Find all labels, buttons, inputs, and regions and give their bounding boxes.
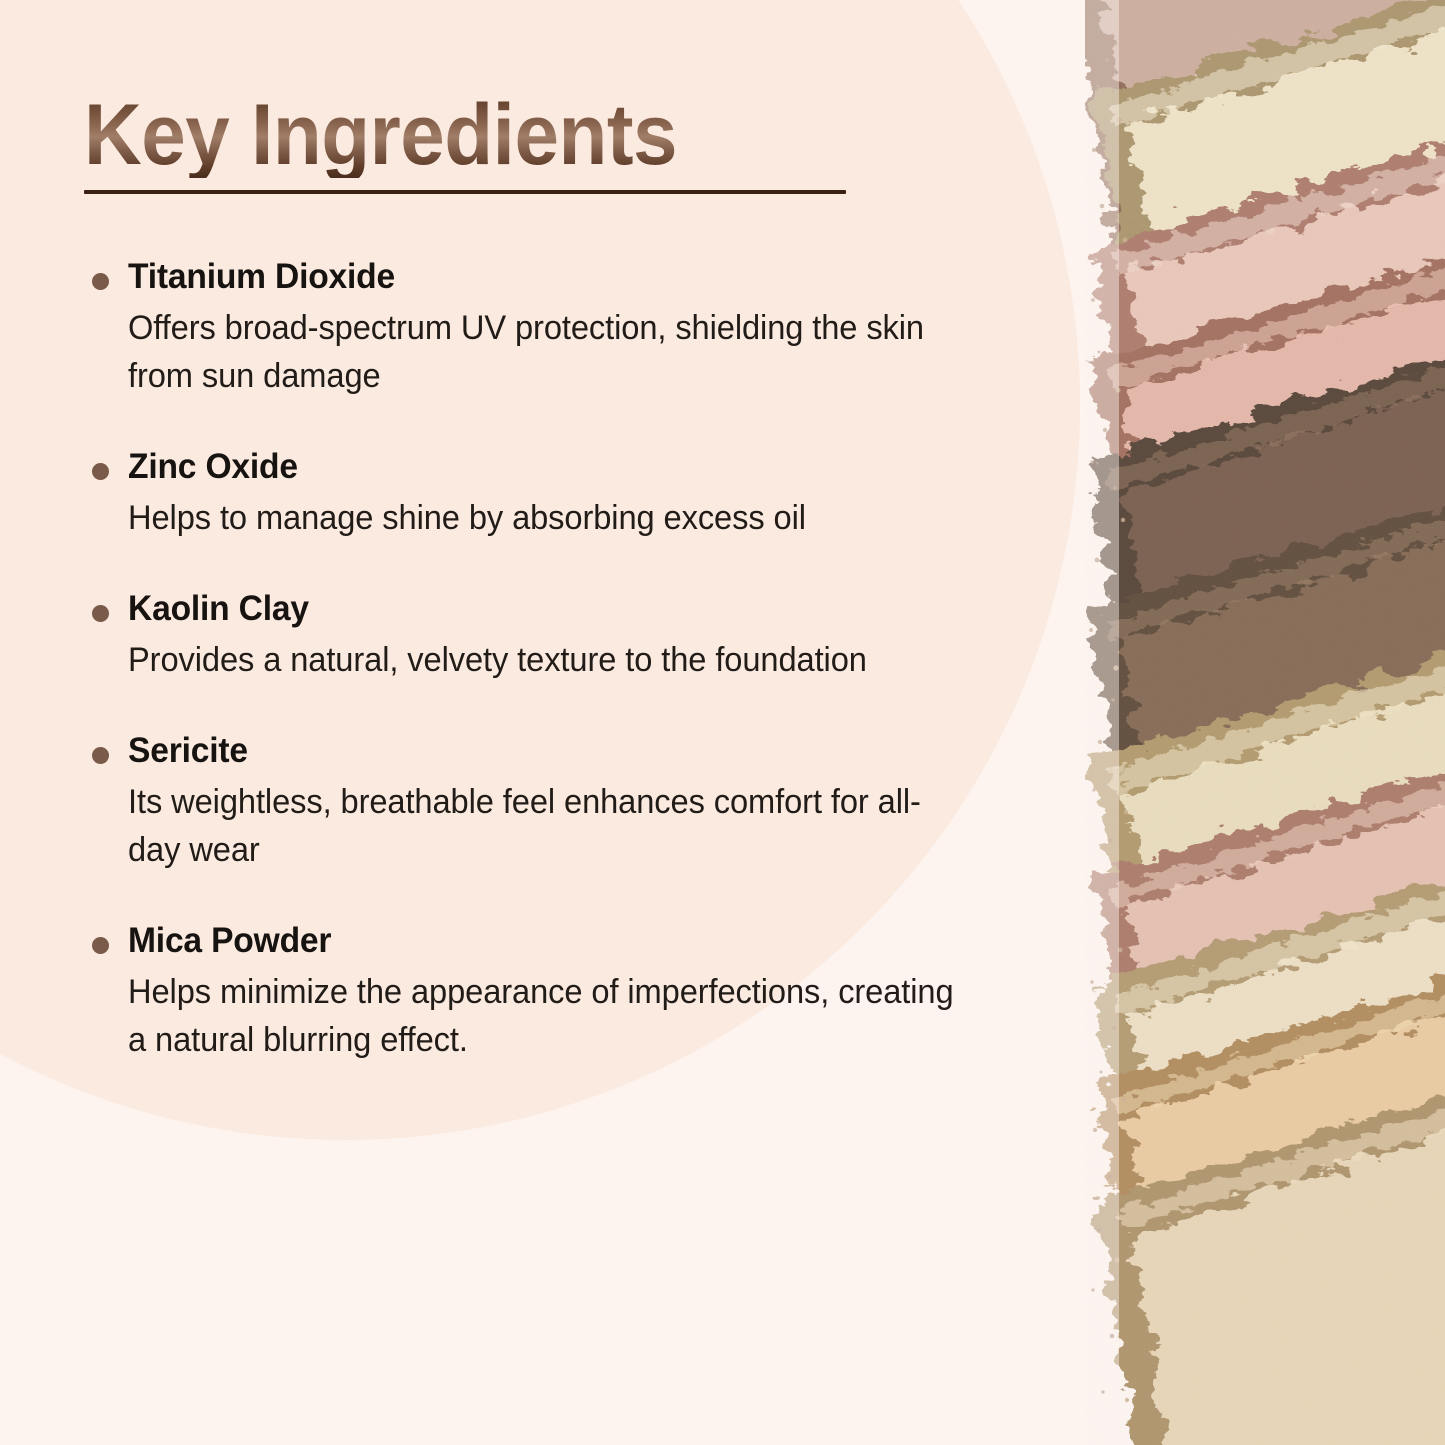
ingredient-item-kaolin-clay: Kaolin Clay Provides a natural, velvety …	[84, 588, 1025, 684]
ingredient-name: Kaolin Clay	[128, 588, 989, 631]
bullet-dot-icon	[92, 273, 109, 290]
ingredient-item-titanium-dioxide: Titanium Dioxide Offers broad-spectrum U…	[84, 256, 1025, 400]
page-title-wrap: Key Ingredients	[84, 92, 846, 194]
powder-swatch-image	[1085, 0, 1445, 1445]
content-column: Key Ingredients Titanium Dioxide Offers …	[0, 0, 1085, 1445]
ingredient-name: Mica Powder	[128, 920, 989, 963]
ingredient-item-zinc-oxide: Zinc Oxide Helps to manage shine by abso…	[84, 446, 1025, 542]
ingredient-item-mica-powder: Mica Powder Helps minimize the appearanc…	[84, 920, 1025, 1064]
ingredient-description: Offers broad-spectrum UV protection, shi…	[128, 304, 963, 401]
ingredient-description: Provides a natural, velvety texture to t…	[128, 636, 963, 684]
page-title: Key Ingredients	[84, 92, 793, 178]
ingredient-name: Sericite	[128, 730, 989, 773]
page-title-underline	[84, 190, 846, 194]
bullet-dot-icon	[92, 747, 109, 764]
bullet-dot-icon	[92, 463, 109, 480]
ingredient-description: Helps minimize the appearance of imperfe…	[128, 968, 963, 1065]
ingredient-name: Zinc Oxide	[128, 446, 989, 489]
ingredients-list: Titanium Dioxide Offers broad-spectrum U…	[84, 256, 1025, 1065]
ingredient-description: Helps to manage shine by absorbing exces…	[128, 494, 963, 542]
key-ingredients-page: Key Ingredients Titanium Dioxide Offers …	[0, 0, 1445, 1445]
ingredient-name: Titanium Dioxide	[128, 256, 989, 299]
ingredient-item-sericite: Sericite Its weightless, breathable feel…	[84, 730, 1025, 874]
bullet-dot-icon	[92, 605, 109, 622]
powder-swatch-graphic	[1085, 0, 1445, 1445]
bullet-dot-icon	[92, 937, 109, 954]
ingredient-description: Its weightless, breathable feel enhances…	[128, 778, 963, 875]
